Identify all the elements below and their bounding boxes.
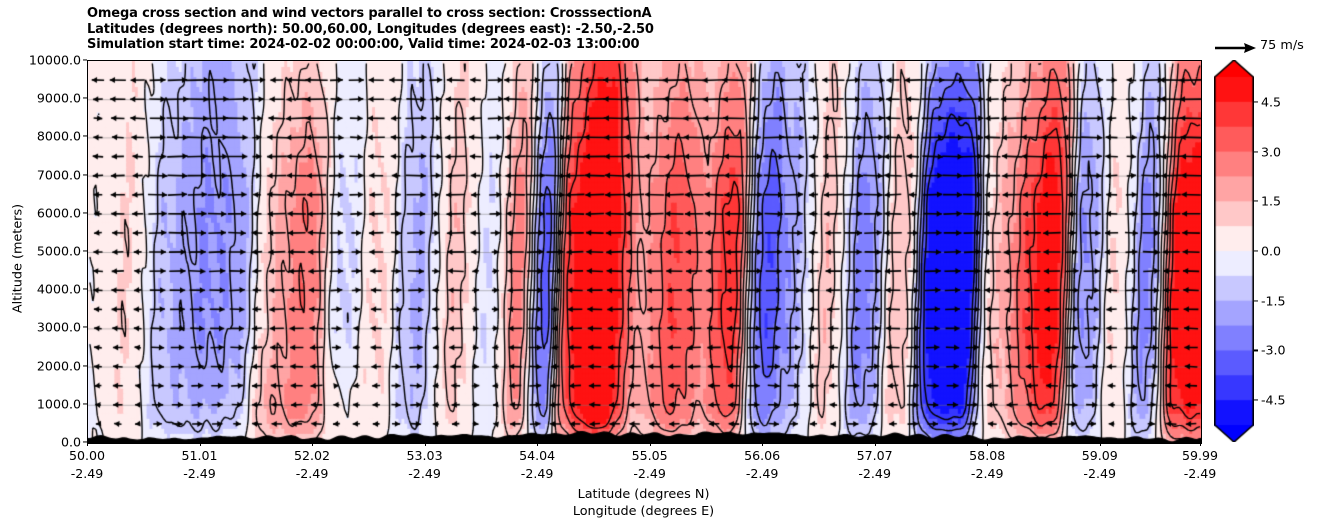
colorbar-tick-mark [1254,250,1258,251]
colorbar-tick-label: 1.5 [1261,194,1281,209]
x-axis-label-longitude: Longitude (degrees E) [87,504,1200,519]
y-axis-label: Altitude (meters) [11,159,26,359]
x-tick-label-latitude: 53.03 [407,448,443,463]
colorbar-gradient [1214,60,1254,442]
x-tick-label-latitude: 55.05 [632,448,668,463]
x-tick-mark [1100,442,1101,446]
title-line-3: Simulation start time: 2024-02-02 00:00:… [87,37,1200,53]
y-tick-label: 9000.0 [37,91,81,106]
y-tick-label: 10000.0 [29,53,81,68]
y-tick-mark [83,365,87,366]
x-tick-label-latitude: 51.01 [181,448,217,463]
colorbar [1214,60,1254,442]
y-tick-label: 3000.0 [37,320,81,335]
y-tick-label: 4000.0 [37,282,81,297]
x-tick-label-latitude: 52.02 [294,448,330,463]
x-tick-mark [87,442,88,446]
y-tick-label: 1000.0 [37,396,81,411]
y-tick-mark [83,212,87,213]
x-tick-label-longitude: -2.49 [296,466,329,481]
x-tick-label-longitude: -2.49 [521,466,554,481]
colorbar-tick-mark [1254,201,1258,202]
colorbar-tick-label: -1.5 [1261,293,1286,308]
x-tick-label-longitude: -2.49 [858,466,891,481]
y-tick-mark [83,174,87,175]
omega-cross-section-plot [88,61,1201,443]
x-tick-label-longitude: -2.49 [633,466,666,481]
x-tick-mark [537,442,538,446]
y-tick-label: 2000.0 [37,358,81,373]
y-tick-label: 7000.0 [37,167,81,182]
x-tick-mark [875,442,876,446]
x-tick-label-longitude: -2.49 [408,466,441,481]
x-tick-label-longitude: -2.49 [71,466,104,481]
colorbar-tick-mark [1254,350,1258,351]
colorbar-tick-mark [1254,101,1258,102]
colorbar-tick-label: -4.5 [1261,393,1286,408]
x-tick-mark [425,442,426,446]
x-tick-label-longitude: -2.49 [1083,466,1116,481]
x-tick-label-latitude: 56.06 [744,448,780,463]
colorbar-tick-label: 3.0 [1261,144,1281,159]
y-tick-label: 8000.0 [37,129,81,144]
x-tick-label-latitude: 59.09 [1082,448,1118,463]
y-tick-mark [83,59,87,60]
x-tick-mark [987,442,988,446]
x-tick-label-longitude: -2.49 [183,466,216,481]
colorbar-tick-label: -3.0 [1261,343,1286,358]
x-tick-label-latitude: 54.04 [519,448,555,463]
x-tick-mark [650,442,651,446]
wind-arrow-icon [1214,41,1258,55]
x-tick-label-longitude: -2.49 [971,466,1004,481]
x-tick-label-latitude: 59.99 [1182,448,1218,463]
x-tick-label-longitude: -2.49 [746,466,779,481]
chart-title: Omega cross section and wind vectors par… [87,6,1200,53]
x-tick-mark [762,442,763,446]
y-tick-mark [83,289,87,290]
x-tick-mark [312,442,313,446]
colorbar-tick-label: 0.0 [1261,244,1281,259]
colorbar-tick-mark [1254,300,1258,301]
colorbar-tick-mark [1254,151,1258,152]
x-tick-mark [200,442,201,446]
plot-area [87,60,1202,444]
x-tick-mark [1200,442,1201,446]
y-tick-mark [83,250,87,251]
figure-canvas: Omega cross section and wind vectors par… [0,0,1320,526]
y-tick-label: 6000.0 [37,205,81,220]
y-tick-mark [83,403,87,404]
colorbar-tick-mark [1254,400,1258,401]
x-tick-label-latitude: 50.00 [69,448,105,463]
colorbar-tick-label: 4.5 [1261,94,1281,109]
y-tick-mark [83,136,87,137]
x-tick-label-latitude: 58.08 [969,448,1005,463]
quiver-key-label: 75 m/s [1260,38,1304,53]
title-line-1: Omega cross section and wind vectors par… [87,6,1200,22]
y-tick-mark [83,327,87,328]
y-tick-label: 5000.0 [37,244,81,259]
x-tick-label-longitude: -2.49 [1184,466,1217,481]
quiver-key: 75 m/s [1214,38,1320,58]
x-axis-label-latitude: Latitude (degrees N) [87,487,1200,502]
x-tick-label-latitude: 57.07 [857,448,893,463]
y-tick-mark [83,98,87,99]
title-line-2: Latitudes (degrees north): 50.00,60.00, … [87,22,1200,38]
